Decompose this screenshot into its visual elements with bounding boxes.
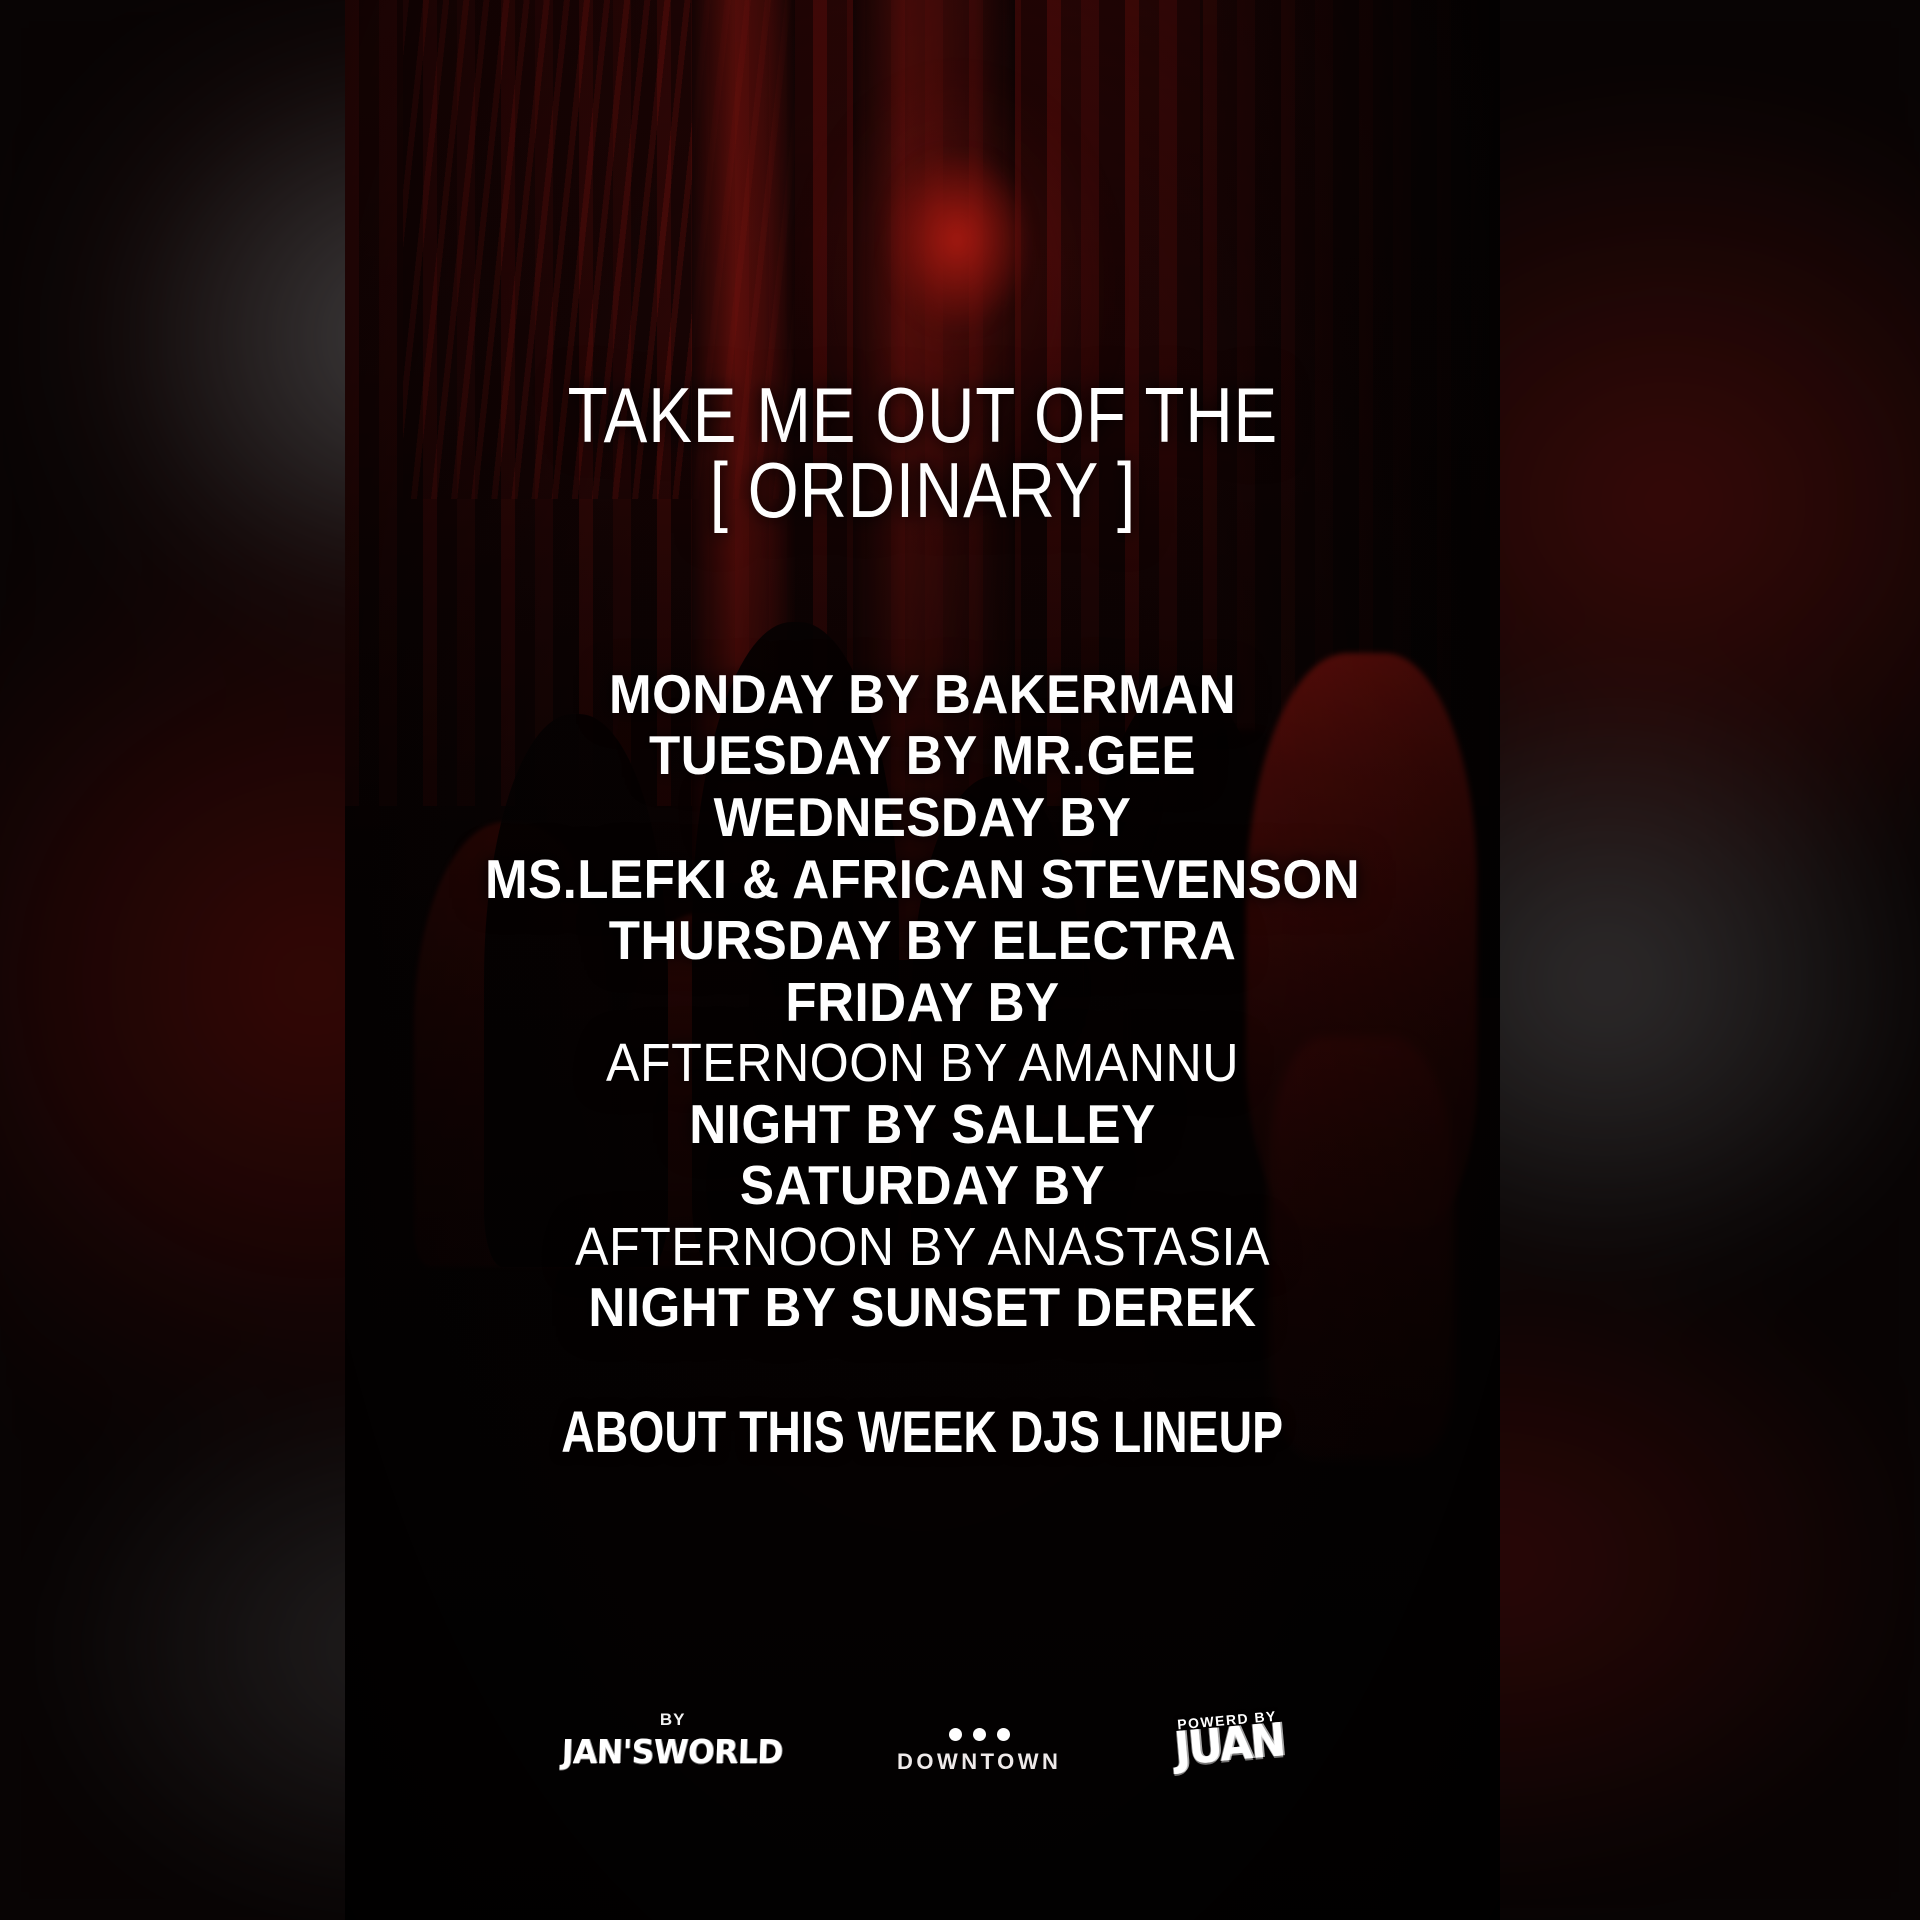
three-dots-icon — [949, 1728, 1010, 1741]
list-item: MS.LEFKI & AFRICAN STEVENSON — [385, 849, 1459, 911]
list-item: WEDNESDAY BY — [385, 787, 1459, 849]
list-item: AFTERNOON BY AMANNU — [385, 1033, 1459, 1093]
list-item: SATURDAY BY — [385, 1155, 1459, 1217]
dj-lineup-list: MONDAY BY BAKERMAN TUESDAY BY MR.GEE WED… — [345, 664, 1500, 1339]
jansworld-prefix: BY — [660, 1710, 686, 1730]
jansworld-wordmark: JAN'SWORLD — [562, 1732, 784, 1771]
headline-line-2: [ ORDINARY ] — [567, 453, 1277, 528]
logo-juan: POWERD BY JUAN — [1167, 1705, 1291, 1771]
list-item: FRIDAY BY — [385, 972, 1459, 1034]
video-panel: TAKE ME OUT OF THE [ ORDINARY ] MONDAY B… — [345, 0, 1500, 1920]
sponsor-logos: BY JAN'SWORLD DOWNTOWN POWERD BY JUAN — [345, 1710, 1500, 1775]
poster-stage: TAKE ME OUT OF THE [ ORDINARY ] MONDAY B… — [0, 0, 1920, 1920]
list-item: NIGHT BY SALLEY — [385, 1094, 1459, 1156]
downtown-wordmark: DOWNTOWN — [897, 1749, 1061, 1775]
page-title: TAKE ME OUT OF THE [ ORDINARY ] — [567, 378, 1277, 528]
juan-wordmark: JUAN — [1173, 1719, 1286, 1770]
list-item: THURSDAY BY ELECTRA — [385, 910, 1459, 972]
list-item: NIGHT BY SUNSET DEREK — [385, 1277, 1459, 1339]
list-item: MONDAY BY BAKERMAN — [385, 664, 1459, 726]
logo-jansworld: BY JAN'SWORLD — [556, 1710, 789, 1771]
poster-content: TAKE ME OUT OF THE [ ORDINARY ] MONDAY B… — [345, 0, 1500, 1920]
list-item: TUESDAY BY MR.GEE — [385, 725, 1459, 787]
logo-downtown: DOWNTOWN — [897, 1710, 1061, 1775]
lineup-caption: ABOUT THIS WEEK DJS LINEUP — [562, 1399, 1284, 1466]
list-item: AFTERNOON BY ANASTASIA — [385, 1217, 1459, 1277]
